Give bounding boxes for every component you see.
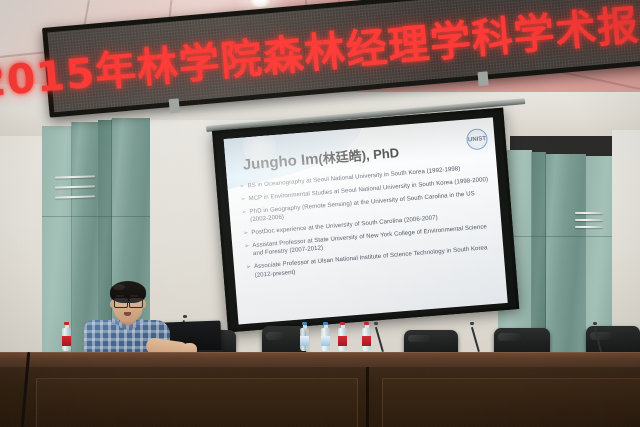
presentation-slide: UNIST Jungho Im(林廷皓), PhD ➢ BS in Oceano… — [224, 117, 508, 324]
presenter-eyebrow — [130, 295, 138, 297]
bullet-arrow-icon: ➢ — [239, 183, 245, 192]
wall-panel-edge — [71, 122, 72, 358]
bottle-label — [321, 336, 330, 346]
bottle-label — [300, 336, 309, 346]
table-front-panel — [36, 378, 358, 427]
presenter-glasses-lens-left — [114, 298, 128, 308]
bullet-arrow-icon: ➢ — [243, 230, 249, 239]
slide-title-latin: Jungho Im — [242, 151, 319, 174]
presenter-glasses-bridge — [126, 301, 130, 302]
bullet-arrow-icon: ➢ — [244, 242, 250, 251]
presenter-glasses-lens-right — [129, 298, 143, 308]
bottle-label — [62, 336, 71, 346]
bullet-arrow-icon: ➢ — [240, 195, 246, 204]
microphone-head — [183, 315, 187, 318]
presenter-eyebrow — [116, 295, 124, 297]
lecture-hall-photo: 2015年林学院森林经理学科学术报告会 UNIST Jungho Im(林廷皓)… — [0, 0, 640, 427]
wall-vent-bar-right — [575, 219, 603, 221]
presenter-mouth — [124, 312, 131, 316]
slide-title-cjk: (林廷皓), PhD — [318, 145, 400, 166]
bottle-label — [338, 336, 347, 346]
bullet-arrow-icon: ➢ — [246, 264, 252, 273]
wall-panel-seam-horizontal — [498, 236, 612, 237]
screen-frame: UNIST Jungho Im(林廷皓), PhD ➢ BS in Oceano… — [212, 108, 519, 333]
wall-vent-bar-right — [575, 226, 603, 228]
bottle-label — [362, 336, 371, 346]
led-banner-mount — [478, 71, 489, 86]
microphone-head — [470, 322, 474, 325]
bullet-arrow-icon: ➢ — [241, 208, 247, 217]
projection-screen: UNIST Jungho Im(林廷皓), PhD ➢ BS in Oceano… — [212, 108, 517, 331]
table-front-panel — [382, 378, 640, 427]
slide-bullet-list: ➢ BS in Oceanography at Seoul National U… — [239, 163, 498, 286]
table-seam — [366, 367, 369, 427]
led-banner-mount — [169, 98, 180, 113]
slide-institution-logo: UNIST — [466, 128, 489, 151]
wall-vent-bar-right — [575, 212, 603, 214]
wall-panel-right-3 — [546, 154, 586, 360]
microphone-head — [593, 322, 597, 325]
microphone-head — [374, 322, 378, 325]
wall-panel-seam-horizontal — [42, 216, 150, 217]
